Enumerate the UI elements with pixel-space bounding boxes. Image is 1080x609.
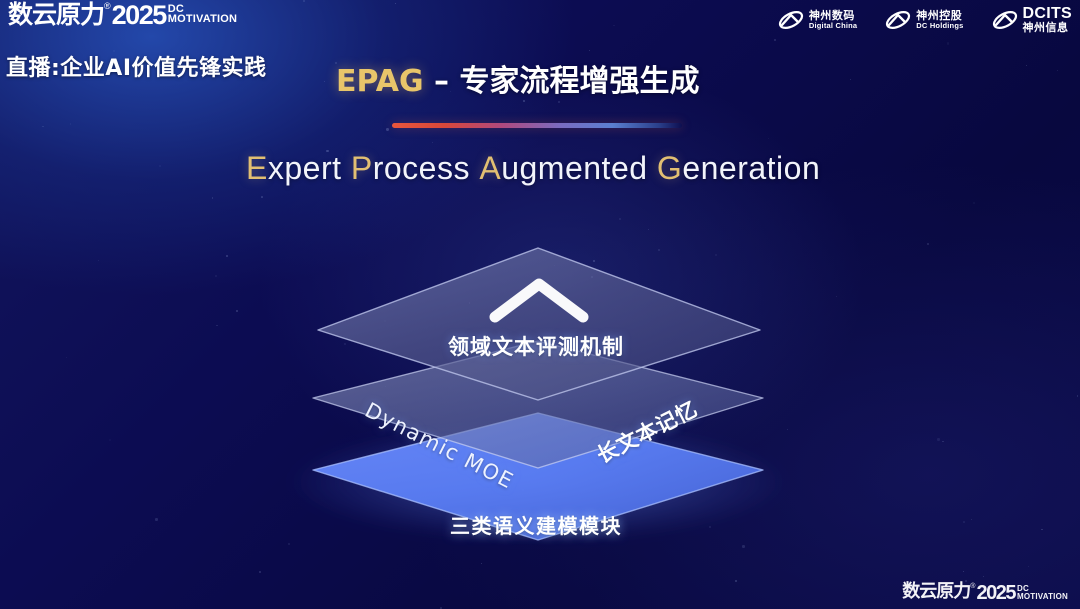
headline-accent: EPAG <box>336 64 424 99</box>
slide-subtitle: Expert Process Augmented Generation <box>246 150 820 187</box>
brand-year: 2025 <box>112 2 166 29</box>
chevron-up-icon <box>495 284 583 317</box>
stack-layer-bottom-label: 三类语义建模模块 <box>450 510 622 539</box>
headline-rest: 专家流程增强生成 <box>459 64 699 99</box>
stack-layer-top <box>318 248 760 400</box>
partner-name-cn: 神州数码 <box>809 10 857 22</box>
swoosh-icon <box>992 10 1018 30</box>
registered-mark: ® <box>104 2 111 11</box>
partner-logo-digital-china: 神州数码 Digital China <box>778 10 857 30</box>
subtitle-rest-1: rocess <box>373 150 470 186</box>
stack-layer-middle-label-left: Dynamic MOE <box>361 398 518 494</box>
subtitle-rest-2: ugmented <box>501 150 647 186</box>
corner-watermark: 数云原力 ® 2025 DC MOTIVATION <box>902 583 1068 603</box>
watermark-name-cn: 数云原力 <box>902 583 970 601</box>
subtitle-rest-0: xpert <box>268 150 342 186</box>
watermark-dc-motivation: DC MOTIVATION <box>1017 585 1068 600</box>
partner-name-en: DC Holdings <box>916 22 963 30</box>
stack-layer-top-label: 领域文本评测机制 <box>448 331 624 361</box>
subtitle-rest-3: eneration <box>682 150 820 186</box>
subtitle-cap-0: E <box>246 150 268 186</box>
watermark-dc-line2: MOTIVATION <box>1017 593 1068 601</box>
partner-name-cn: 神州信息 <box>1023 22 1073 34</box>
slide-headline: EPAG – 专家流程增强生成 <box>336 56 699 100</box>
slide-canvas: 数云原力 ® 2025 DC MOTIVATION 直播:企业AI价值先锋实践 … <box>0 0 1080 609</box>
brand-name-cn: 数云原力 <box>8 2 104 27</box>
subtitle-cap-2: A <box>479 150 501 186</box>
brand-dc-motivation: DC MOTIVATION <box>168 4 237 25</box>
swoosh-icon <box>885 10 911 30</box>
swoosh-icon <box>778 10 804 30</box>
partner-logo-row: 神州数码 Digital China 神州控股 DC Holdings <box>778 6 1072 34</box>
watermark-year: 2025 <box>976 583 1015 603</box>
subtitle-cap-3: G <box>657 150 682 186</box>
partner-logo-dcits: DCITS 神州信息 <box>992 6 1073 34</box>
partner-logo-dc-holdings: 神州控股 DC Holdings <box>885 10 963 30</box>
partner-name-en: Digital China <box>809 22 857 30</box>
gradient-divider <box>392 123 682 128</box>
brand-dc-line2: MOTIVATION <box>168 14 237 24</box>
subtitle-cap-1: P <box>351 150 373 186</box>
watermark-registered-mark: ® <box>970 583 975 590</box>
partner-name-cn: 神州控股 <box>916 10 963 22</box>
brand-lockup: 数云原力 ® 2025 DC MOTIVATION <box>8 2 237 29</box>
headline-separator: – <box>424 64 460 99</box>
stack-layer-middle-label-right: 长文本记忆 <box>591 393 703 470</box>
partner-name-en: DCITS <box>1023 6 1073 22</box>
live-stream-title: 直播:企业AI价值先锋实践 <box>6 50 267 82</box>
